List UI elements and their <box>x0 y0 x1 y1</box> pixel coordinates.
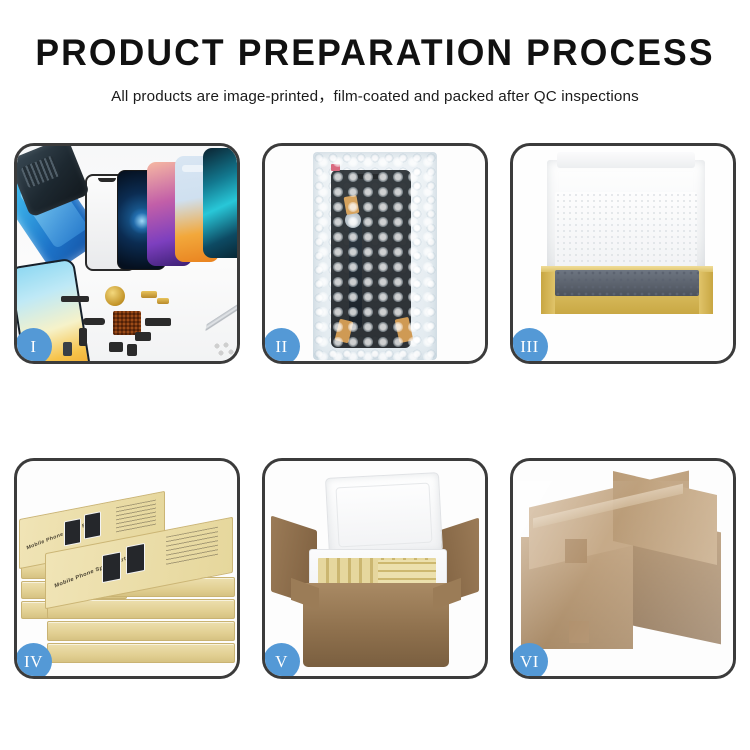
grey-foam-insert-icon <box>555 270 699 296</box>
small-module-icon <box>63 342 72 356</box>
white-foam-sheet-icon <box>555 192 697 268</box>
box-spec-lines <box>116 500 156 534</box>
teal-gradient-phone-icon <box>203 148 237 258</box>
sim-tray-icon <box>127 344 137 356</box>
box-spec-lines <box>166 527 218 567</box>
tray-side-left <box>541 272 555 314</box>
box-art-screen <box>126 543 145 575</box>
box-art-screen <box>84 511 101 539</box>
step-badge-6: VI <box>511 643 548 679</box>
step-5-image <box>265 461 485 676</box>
carton-lip-right <box>433 578 461 610</box>
step-badge-4: IV <box>15 643 52 679</box>
foam-lid-icon <box>325 472 443 558</box>
box-stack-icon: Mobile Phone Spare Parts Mobile Phone Sp… <box>19 479 237 669</box>
bubble-wrap-bag-icon <box>313 152 437 360</box>
process-step-panel-4[interactable]: Mobile Phone Spare Parts Mobile Phone Sp… <box>14 458 240 679</box>
box-edge <box>47 621 235 641</box>
product-preparation-page: PRODUCT PREPARATION PROCESS All products… <box>0 0 750 750</box>
box-art-screen <box>64 518 81 546</box>
side-key-icon <box>79 328 87 346</box>
step-badge-3: III <box>511 328 548 364</box>
tray-side-right <box>699 272 713 314</box>
charging-port-icon <box>135 332 151 341</box>
step-badge-1: I <box>15 328 52 364</box>
process-step-panel-1[interactable]: I <box>14 143 240 364</box>
process-step-grid: I II <box>14 143 736 679</box>
step-badge-2: II <box>263 328 300 364</box>
step-1-image <box>17 146 237 361</box>
box-edge <box>47 643 235 663</box>
step-4-image: Mobile Phone Spare Parts Mobile Phone Sp… <box>17 461 237 676</box>
earpiece-mesh-icon <box>61 296 89 302</box>
step-6-image <box>513 461 733 676</box>
carton-lip-left <box>291 578 319 610</box>
speaker-module-icon <box>105 286 125 306</box>
process-step-panel-3[interactable]: III <box>510 143 736 364</box>
box-art-screen <box>102 551 121 583</box>
page-title: PRODUCT PREPARATION PROCESS <box>15 34 735 73</box>
step-3-image <box>513 146 733 361</box>
carton-tab-lower <box>569 621 589 643</box>
carton-tab-upper <box>565 539 587 563</box>
page-header: PRODUCT PREPARATION PROCESS All products… <box>0 0 750 106</box>
step-badge-5: V <box>263 643 300 679</box>
camera-flex-icon <box>145 318 171 326</box>
bubble-gloss-overlay <box>313 152 437 360</box>
gold-tray-icon <box>541 266 713 314</box>
gold-contact-icon <box>157 298 169 304</box>
gold-flex-cable-icon <box>141 291 157 298</box>
vibrator-icon <box>109 342 123 352</box>
process-step-panel-2[interactable]: II <box>262 143 488 364</box>
tweezers-icon <box>205 293 237 336</box>
step-2-image <box>265 146 485 361</box>
screws-icon <box>213 342 235 358</box>
process-step-panel-5[interactable]: V <box>262 458 488 679</box>
page-subtitle: All products are image-printed，film-coat… <box>0 84 750 106</box>
process-step-panel-6[interactable]: VI <box>510 458 736 679</box>
carton-body-icon <box>303 583 449 667</box>
button-flex-icon <box>83 318 105 325</box>
